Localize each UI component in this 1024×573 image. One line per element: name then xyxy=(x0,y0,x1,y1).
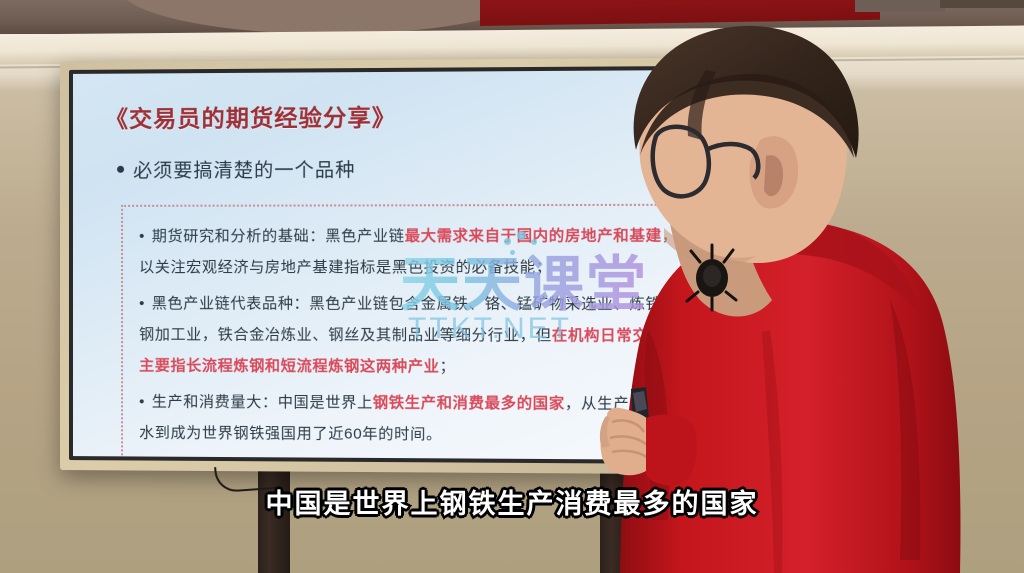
paragraph-3-lead: 生产和消费量大：中国是世界上 xyxy=(152,393,373,411)
paragraph-3-bullet: • xyxy=(139,393,145,410)
bullet-dot-icon xyxy=(117,166,124,173)
video-subtitle: 中国是世界上钢铁生产消费最多的国家 xyxy=(0,482,1024,521)
paragraph-1: • 期货研究和分析的基础：黑色产业链最大需求来自于国内的房地产和基建，所以关注宏… xyxy=(139,220,708,283)
slide-content: 《交易员的期货经验分享》 必须要搞清楚的一个品种 • 期货研究和分析的基础：黑色… xyxy=(73,70,762,461)
video-frame: 《交易员的期货经验分享》 必须要搞清楚的一个品种 • 期货研究和分析的基础：黑色… xyxy=(0,0,1024,573)
presentation-screen[interactable]: 《交易员的期货经验分享》 必须要搞清楚的一个品种 • 期货研究和分析的基础：黑色… xyxy=(73,70,762,461)
tv-bezel: 《交易员的期货经验分享》 必须要搞清楚的一个品种 • 期货研究和分析的基础：黑色… xyxy=(69,66,766,465)
wall-panel-light xyxy=(855,0,945,12)
paragraph-2: • 黑色产业链代表品种：黑色产业链包含金属铁、铬、锰矿物采选业、炼铁业、钢加工业… xyxy=(139,288,708,383)
paragraph-1-bullet: • xyxy=(139,228,145,245)
ceiling-arc xyxy=(120,0,540,34)
wall-panel-dark xyxy=(940,0,1024,8)
main-bullet-row: 必须要搞清楚的一个品种 xyxy=(117,154,735,183)
dashed-content-box: • 期货研究和分析的基础：黑色产业链最大需求来自于国内的房地产和基建，所以关注宏… xyxy=(121,204,726,461)
paragraph-3-highlight: 钢铁生产和消费最多的国家 xyxy=(373,394,565,412)
tv-display[interactable]: 《交易员的期货经验分享》 必须要搞清楚的一个品种 • 期货研究和分析的基础：黑色… xyxy=(60,57,776,474)
main-bullet-label: 必须要搞清楚的一个品种 xyxy=(133,155,355,183)
slide-title: 《交易员的期货经验分享》 xyxy=(105,96,735,133)
paragraph-3: • 生产和消费量大：中国是世界上钢铁生产和消费最多的国家，从生产第一炉钢水到成为… xyxy=(139,386,708,452)
paragraph-2-bullet: • xyxy=(139,295,145,312)
paragraph-1-highlight: 最大需求来自于国内的房地产和基建 xyxy=(405,227,662,245)
paragraph-2-tail: ； xyxy=(440,358,456,375)
paragraph-1-lead: 期货研究和分析的基础：黑色产业链 xyxy=(152,228,405,245)
